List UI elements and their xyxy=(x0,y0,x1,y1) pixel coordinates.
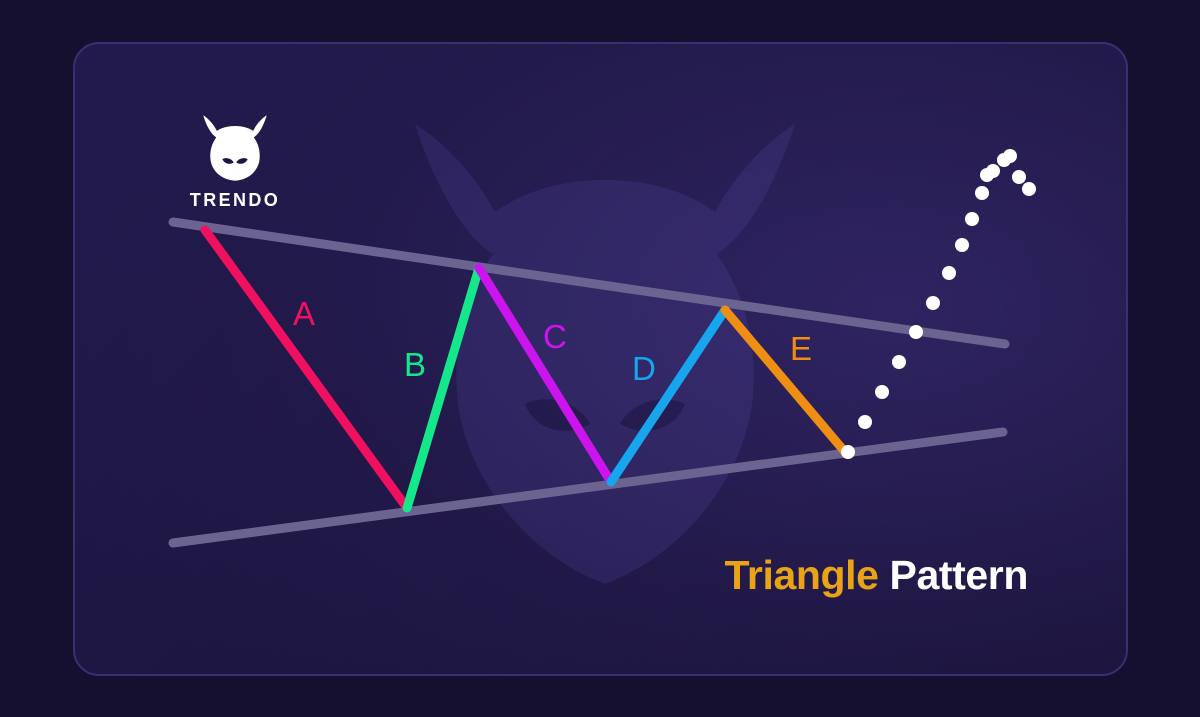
brand-logo: TRENDO xyxy=(179,114,291,211)
wave-label-d: D xyxy=(632,352,656,385)
wave-label-b: B xyxy=(404,348,426,381)
bull-head-icon xyxy=(193,114,277,182)
caption-plain-word: Pattern xyxy=(890,552,1028,598)
bull-head-watermark-icon xyxy=(375,104,835,604)
wave-label-e: E xyxy=(790,332,812,365)
poster-canvas: TRENDO Triangle Pattern ABCDE xyxy=(0,0,1200,717)
pattern-caption: Triangle Pattern xyxy=(725,552,1028,599)
wave-label-a: A xyxy=(293,297,315,330)
caption-accent-word: Triangle xyxy=(725,552,879,598)
pattern-card: TRENDO Triangle Pattern xyxy=(73,42,1128,676)
brand-name: TRENDO xyxy=(179,190,291,211)
wave-label-c: C xyxy=(543,320,567,353)
